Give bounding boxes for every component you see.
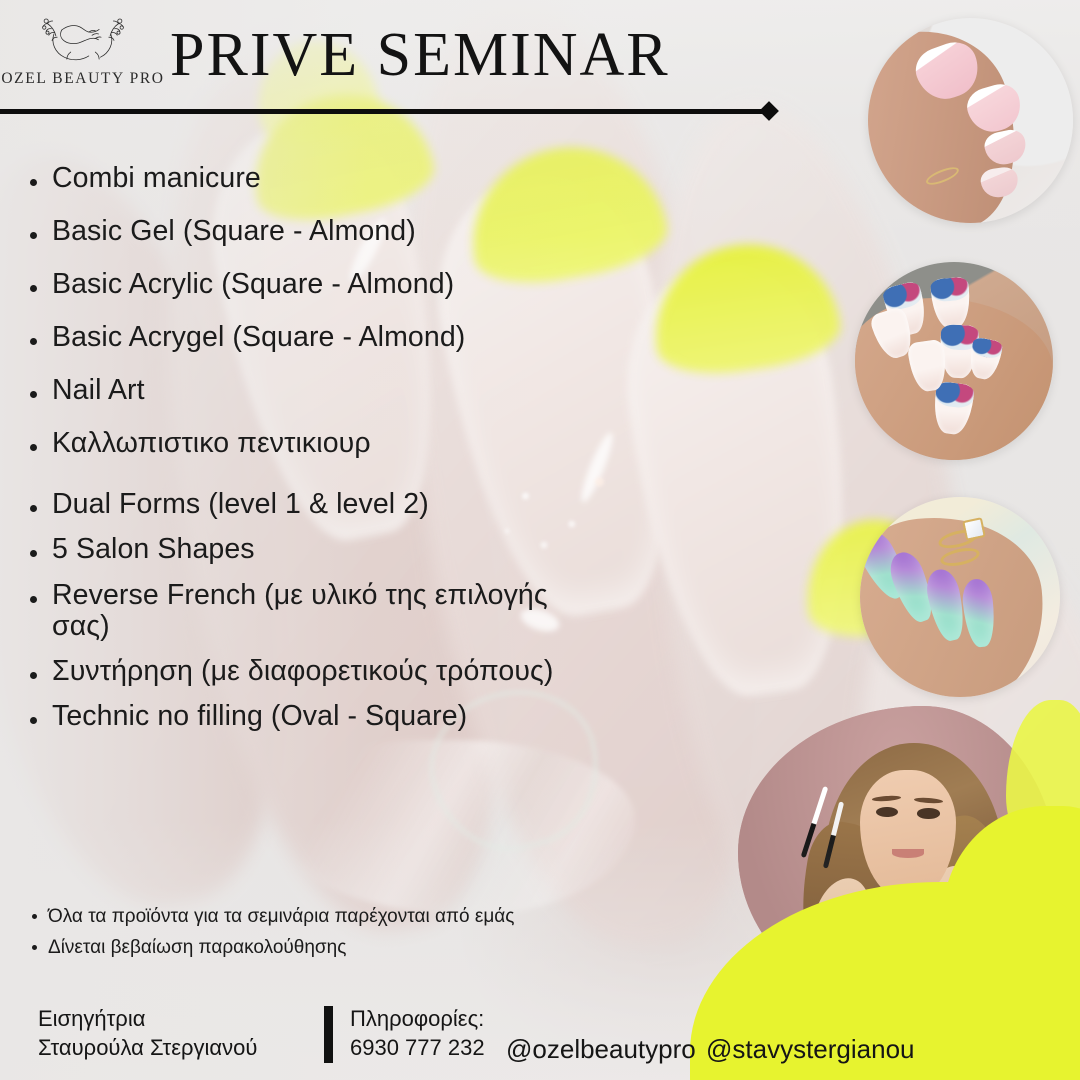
instructor-label: Εισηγήτρια (38, 1004, 257, 1033)
bullet-icon (30, 550, 37, 557)
bullet-icon (30, 505, 37, 512)
footer: Εισηγήτρια Σταυρούλα Στεργιανού Πληροφορ… (38, 1004, 1048, 1070)
contact-block: Πληροφορίες: 6930 777 232 (350, 1004, 485, 1063)
service-label: Reverse French (με υλικό της επιλογής σα… (52, 580, 590, 642)
service-label: Συντήρηση (με διαφορετικούς τρόπους) (52, 656, 590, 687)
handle-business[interactable]: @ozelbeautypro (506, 1034, 696, 1065)
list-item: Technic no filling (Oval - Square) (30, 701, 590, 732)
bullet-icon (30, 596, 37, 603)
note-label: Δίνεται βεβαίωση παρακολούθησης (48, 936, 346, 960)
service-label: Basic Gel (Square - Almond) (52, 216, 590, 247)
service-label: 5 Salon Shapes (52, 534, 590, 565)
bullet-icon (30, 444, 37, 451)
poster-canvas: OZEL BEAUTY PRO PRIVE SEMINAR Combi mani… (0, 0, 1080, 1080)
list-item: Dual Forms (level 1 & level 2) (30, 489, 590, 520)
service-label: Nail Art (52, 375, 590, 406)
bullet-icon (30, 391, 37, 398)
bullet-icon (30, 179, 37, 186)
services-list: Combi manicure Basic Gel (Square - Almon… (30, 163, 590, 746)
divider-line (0, 109, 770, 114)
service-label: Combi manicure (52, 163, 590, 194)
info-label: Πληροφορίες: (350, 1004, 485, 1033)
bullet-icon (32, 914, 37, 919)
notes-list: Όλα τα προϊόντα για τα σεμινάρια παρέχον… (32, 905, 732, 967)
service-label: Basic Acrylic (Square - Almond) (52, 269, 590, 300)
bullet-icon (30, 338, 37, 345)
list-item: Καλλωπιστικο πεντικιουρ (30, 428, 590, 459)
bullet-icon (30, 672, 37, 679)
list-item: Δίνεται βεβαίωση παρακολούθησης (32, 936, 732, 960)
list-item: Όλα τα προϊόντα για τα σεμινάρια παρέχον… (32, 905, 732, 929)
footer-divider-bar (324, 1006, 333, 1063)
handle-personal[interactable]: @stavystergianou (706, 1034, 915, 1065)
list-item: 5 Salon Shapes (30, 534, 590, 565)
list-item: Basic Acrygel (Square - Almond) (30, 322, 590, 353)
bullet-icon (30, 717, 37, 724)
hand-laurel-logo-icon (28, 12, 138, 74)
instructor-name: Σταυρούλα Στεργιανού (38, 1033, 257, 1062)
logo-wordmark: OZEL BEAUTY PRO (1, 70, 164, 88)
service-label: Καλλωπιστικο πεντικιουρ (52, 428, 590, 459)
list-item: Basic Acrylic (Square - Almond) (30, 269, 590, 300)
page-title: PRIVE SEMINAR (170, 24, 870, 86)
list-item: Nail Art (30, 375, 590, 406)
phone-number[interactable]: 6930 777 232 (350, 1033, 485, 1062)
instructor-block: Εισηγήτρια Σταυρούλα Στεργιανού (38, 1004, 257, 1063)
list-item: Συντήρηση (με διαφορετικούς τρόπους) (30, 656, 590, 687)
photo-ombre-nails (860, 497, 1060, 697)
diamond-end-icon (759, 101, 779, 121)
header-divider (0, 103, 790, 121)
bullet-icon (30, 232, 37, 239)
list-item: Reverse French (με υλικό της επιλογής σα… (30, 580, 590, 642)
list-item: Basic Gel (Square - Almond) (30, 216, 590, 247)
list-item: Combi manicure (30, 163, 590, 194)
photo-french-manicure (868, 18, 1073, 223)
brand-logo: OZEL BEAUTY PRO (8, 12, 158, 107)
service-label: Technic no filling (Oval - Square) (52, 701, 590, 732)
photo-nail-art (855, 262, 1053, 460)
note-label: Όλα τα προϊόντα για τα σεμινάρια παρέχον… (48, 905, 514, 929)
bullet-icon (30, 285, 37, 292)
bullet-icon (32, 945, 37, 950)
service-label: Dual Forms (level 1 & level 2) (52, 489, 590, 520)
service-label: Basic Acrygel (Square - Almond) (52, 322, 590, 353)
